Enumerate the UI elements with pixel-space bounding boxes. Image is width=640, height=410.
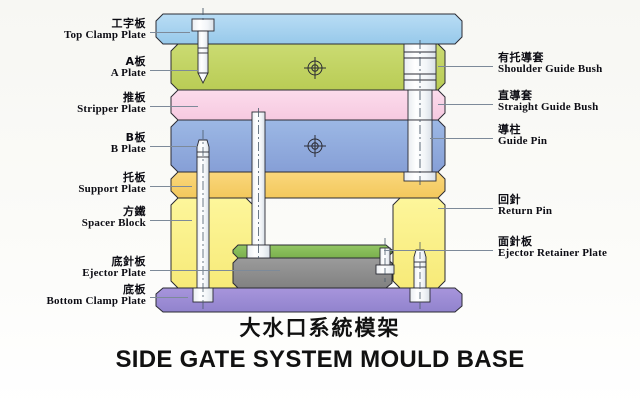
plate-ejector-plate [233,258,392,288]
label-cn: 底板 [46,284,146,296]
label-en: Guide Pin [498,136,547,148]
leader-line [150,146,198,147]
label-straight-guide-bush: 直導套 Straight Guide Bush [498,90,598,113]
title-en: SIDE GATE SYSTEM MOULD BASE [0,346,640,374]
label-en: B Plate [111,144,146,156]
label-top-clamp-plate: 工字板 Top Clamp Plate [64,18,146,41]
label-en: Ejector Retainer Plate [498,248,607,260]
label-support-plate: 托板 Support Plate [78,172,146,195]
leader-line [150,32,190,33]
label-en: Shoulder Guide Bush [498,64,602,76]
label-en: Spacer Block [82,218,146,230]
leader-line [150,106,198,107]
label-cn: 推板 [77,92,146,104]
title-cn: 大水口系統模架 [0,312,640,342]
leader-line [438,104,493,105]
label-en: Return Pin [498,206,552,218]
leader-line [150,186,192,187]
shoulder-guide-bush [404,44,436,90]
label-cn: 有托導套 [498,52,602,64]
label-guide-pin: 導柱 Guide Pin [498,124,547,147]
label-cn: 底針板 [82,256,146,268]
guide-pin-column [404,40,436,186]
label-ejector-plate: 底針板 Ejector Plate [82,256,146,279]
label-a-plate: A板 A Plate [111,56,146,79]
label-cn: 直導套 [498,90,598,102]
label-cn: 方鐵 [82,206,146,218]
label-en: Stripper Plate [77,104,146,116]
leader-line [430,138,493,139]
diagram-canvas: 工字板 Top Clamp Plate A板 A Plate 推板 Stripp… [0,0,640,410]
diagram-title: 大水口系統模架 SIDE GATE SYSTEM MOULD BASE [0,312,640,374]
leader-line [150,220,192,221]
leader-line [438,66,493,67]
mould-base-drawing [0,0,640,330]
label-cn: 回針 [498,194,552,206]
label-en: Bottom Clamp Plate [46,296,146,308]
leader-line [438,208,493,209]
label-cn: 托板 [78,172,146,184]
leader-line [150,270,280,271]
label-spacer-block: 方鐵 Spacer Block [82,206,146,229]
label-en: Ejector Plate [82,268,146,280]
label-cn: B板 [111,132,146,144]
leader-line [150,297,188,298]
label-return-pin: 回針 Return Pin [498,194,552,217]
label-cn: 工字板 [64,18,146,30]
leader-line [384,250,493,251]
label-bottom-clamp-plate: 底板 Bottom Clamp Plate [46,284,146,307]
label-cn: A板 [111,56,146,68]
label-ejector-retainer-plate: 面針板 Ejector Retainer Plate [498,236,607,259]
label-shoulder-guide-bush: 有托導套 Shoulder Guide Bush [498,52,602,75]
label-en: Top Clamp Plate [64,30,146,42]
label-en: A Plate [111,68,146,80]
label-en: Straight Guide Bush [498,102,598,114]
label-en: Support Plate [78,184,146,196]
label-stripper-plate: 推板 Stripper Plate [77,92,146,115]
label-b-plate: B板 B Plate [111,132,146,155]
leader-line [150,70,198,71]
plate-stripper-plate [171,90,445,120]
label-cn: 面針板 [498,236,607,248]
label-cn: 導柱 [498,124,547,136]
